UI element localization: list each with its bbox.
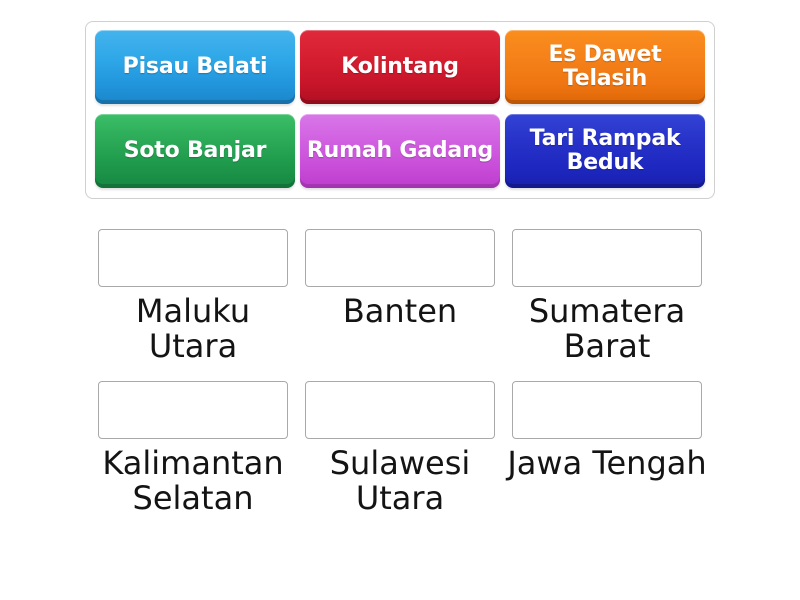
dropzone-banten[interactable]	[305, 229, 495, 287]
dropzone-label-kalimantan-selatan: Kalimantan Selatan	[93, 446, 293, 515]
draggable-tile-pisau-belati[interactable]: Pisau Belati	[95, 30, 295, 104]
dropzone-cell-sumatera-barat: Sumatera Barat	[512, 229, 702, 363]
dropzone-jawa-tengah[interactable]	[512, 381, 702, 439]
dropzone-cell-maluku-utara: Maluku Utara	[98, 229, 288, 363]
tile-label: Kolintang	[306, 55, 494, 79]
dropzone-label-banten: Banten	[300, 294, 500, 329]
dropzone-cell-jawa-tengah: Jawa Tengah	[512, 381, 702, 515]
dropzone-area: Maluku Utara Banten Sumatera Barat Kalim…	[98, 229, 702, 533]
dropzone-maluku-utara[interactable]	[98, 229, 288, 287]
dropzone-cell-sulawesi-utara: Sulawesi Utara	[305, 381, 495, 515]
tile-label: Soto Banjar	[101, 139, 289, 163]
draggable-tile-tari-rampak-beduk[interactable]: Tari Rampak Beduk	[505, 114, 705, 188]
draggable-tile-tray: Pisau Belati Kolintang Es Dawet Telasih …	[85, 21, 715, 199]
tile-label: Rumah Gadang	[306, 139, 494, 163]
dropzone-kalimantan-selatan[interactable]	[98, 381, 288, 439]
dropzone-label-sulawesi-utara: Sulawesi Utara	[300, 446, 500, 515]
dropzone-label-jawa-tengah: Jawa Tengah	[507, 446, 707, 481]
draggable-tile-rumah-gadang[interactable]: Rumah Gadang	[300, 114, 500, 188]
dropzone-label-sumatera-barat: Sumatera Barat	[507, 294, 707, 363]
draggable-tile-soto-banjar[interactable]: Soto Banjar	[95, 114, 295, 188]
tile-label: Pisau Belati	[101, 55, 289, 79]
dropzone-label-maluku-utara: Maluku Utara	[93, 294, 293, 363]
tile-row-2: Soto Banjar Rumah Gadang Tari Rampak Bed…	[95, 114, 705, 190]
dropzone-cell-banten: Banten	[305, 229, 495, 363]
dropzone-row-1: Maluku Utara Banten Sumatera Barat	[98, 229, 702, 363]
dropzone-cell-kalimantan-selatan: Kalimantan Selatan	[98, 381, 288, 515]
draggable-tile-kolintang[interactable]: Kolintang	[300, 30, 500, 104]
draggable-tile-es-dawet-telasih[interactable]: Es Dawet Telasih	[505, 30, 705, 104]
dropzone-row-2: Kalimantan Selatan Sulawesi Utara Jawa T…	[98, 381, 702, 515]
dropzone-sumatera-barat[interactable]	[512, 229, 702, 287]
tile-row-1: Pisau Belati Kolintang Es Dawet Telasih	[95, 30, 705, 106]
dropzone-sulawesi-utara[interactable]	[305, 381, 495, 439]
tile-label: Es Dawet Telasih	[511, 43, 699, 91]
tile-label: Tari Rampak Beduk	[511, 127, 699, 175]
